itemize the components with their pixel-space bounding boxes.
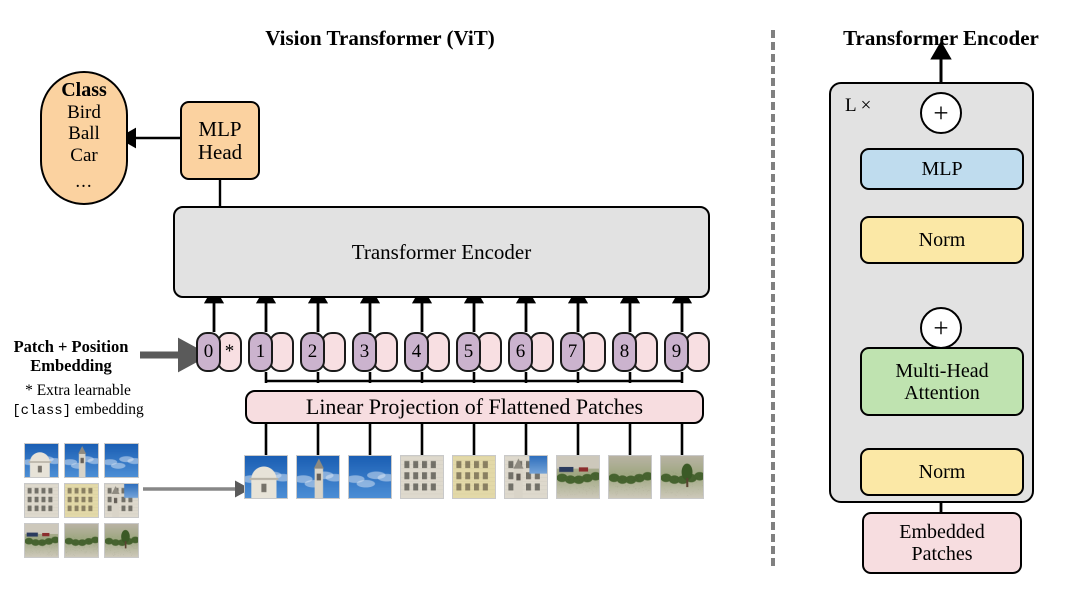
source-patch-r0-c1 — [64, 443, 99, 478]
source-patch-r1-c0 — [24, 483, 59, 518]
mlp-head-line1: MLP — [198, 118, 241, 140]
source-patch-r0-c2 — [104, 443, 139, 478]
right-panel-title: Transformer Encoder — [808, 26, 1074, 51]
mlp-head-line2: Head — [198, 141, 242, 163]
residual-add-top-symbol: + — [933, 100, 948, 127]
token-position-pill-2: 2 — [300, 332, 325, 372]
embedded-patches-line2: Patches — [911, 543, 972, 565]
class-output-box: Class Bird Ball Car ... — [40, 71, 128, 205]
lines-projection-to-patches — [266, 423, 682, 455]
source-patch-r2-c2 — [104, 523, 139, 558]
source-patch-r2-c0 — [24, 523, 59, 558]
patch-position-line1: Patch + Position — [6, 337, 136, 356]
vit-architecture-figure: Vision Transformer (ViT) Class Bird Ball… — [0, 0, 1080, 593]
flattened-patch-6 — [504, 455, 548, 499]
encoder-outer-panel — [829, 82, 1034, 503]
flattened-patch-5 — [452, 455, 496, 499]
source-patch-r0-c0 — [24, 443, 59, 478]
class-box-item-1: Ball — [68, 123, 100, 145]
token-position-pill-7: 7 — [560, 332, 585, 372]
token-position-pill-9: 9 — [664, 332, 689, 372]
patch-position-embedding-label: Patch + Position Embedding — [6, 337, 136, 375]
class-box-item-2: Car — [70, 145, 97, 167]
mha-line1: Multi-Head — [895, 360, 988, 382]
class-box-header: Class — [61, 79, 107, 102]
extra-learnable-tail: embedding — [71, 401, 144, 418]
multi-head-attention-block: Multi-Head Attention — [860, 347, 1024, 416]
token-position-pill-1: 1 — [248, 332, 273, 372]
linear-projection-label: Linear Projection of Flattened Patches — [306, 394, 643, 420]
source-patch-r2-c1 — [64, 523, 99, 558]
token-position-pill-6: 6 — [508, 332, 533, 372]
panel-divider — [771, 30, 775, 566]
norm-block-lower-label: Norm — [919, 461, 966, 483]
arrows-tokens-to-encoder — [214, 300, 682, 332]
embedded-patches-block: Embedded Patches — [862, 512, 1022, 574]
extra-learnable-note: * Extra learnable [class] embedding — [4, 382, 152, 420]
embedded-patches-line1: Embedded — [899, 521, 985, 543]
flattened-patch-7 — [556, 455, 600, 499]
residual-add-top: + — [920, 92, 962, 134]
norm-block-upper-label: Norm — [919, 229, 966, 251]
left-panel-title: Vision Transformer (ViT) — [190, 26, 570, 51]
flattened-patch-1 — [244, 455, 288, 499]
flattened-patch-3 — [348, 455, 392, 499]
transformer-encoder-block-label: Transformer Encoder — [352, 240, 531, 265]
token-position-pill-0: 0 — [196, 332, 221, 372]
mlp-block: MLP — [860, 148, 1024, 190]
flattened-patch-9 — [660, 455, 704, 499]
extra-learnable-line2: [class] embedding — [4, 401, 152, 420]
linear-projection-box: Linear Projection of Flattened Patches — [245, 390, 704, 424]
flattened-patch-8 — [608, 455, 652, 499]
mha-line2: Attention — [904, 382, 980, 404]
patch-position-line2: Embedding — [6, 356, 136, 375]
extra-learnable-line1: * Extra learnable — [4, 382, 152, 401]
token-position-pill-3: 3 — [352, 332, 377, 372]
class-box-ellipsis: ... — [75, 167, 92, 197]
flattened-patch-4 — [400, 455, 444, 499]
transformer-encoder-block: Transformer Encoder — [173, 206, 710, 298]
source-patch-r1-c1 — [64, 483, 99, 518]
residual-add-mid: + — [920, 307, 962, 349]
norm-block-lower: Norm — [860, 448, 1024, 496]
residual-add-mid-symbol: + — [933, 315, 948, 342]
class-box-item-0: Bird — [67, 102, 101, 124]
repeat-count-label: L × — [845, 95, 871, 117]
mlp-block-label: MLP — [921, 158, 962, 180]
source-patch-r1-c2 — [104, 483, 139, 518]
class-token-mono: [class] — [12, 403, 71, 419]
mlp-head-box: MLP Head — [180, 101, 260, 180]
token-position-pill-4: 4 — [404, 332, 429, 372]
token-position-pill-8: 8 — [612, 332, 637, 372]
token-position-pill-5: 5 — [456, 332, 481, 372]
source-image-patch-grid — [24, 443, 140, 559]
norm-block-upper: Norm — [860, 216, 1024, 264]
flattened-patch-2 — [296, 455, 340, 499]
lines-tokens-to-bus — [266, 372, 682, 383]
